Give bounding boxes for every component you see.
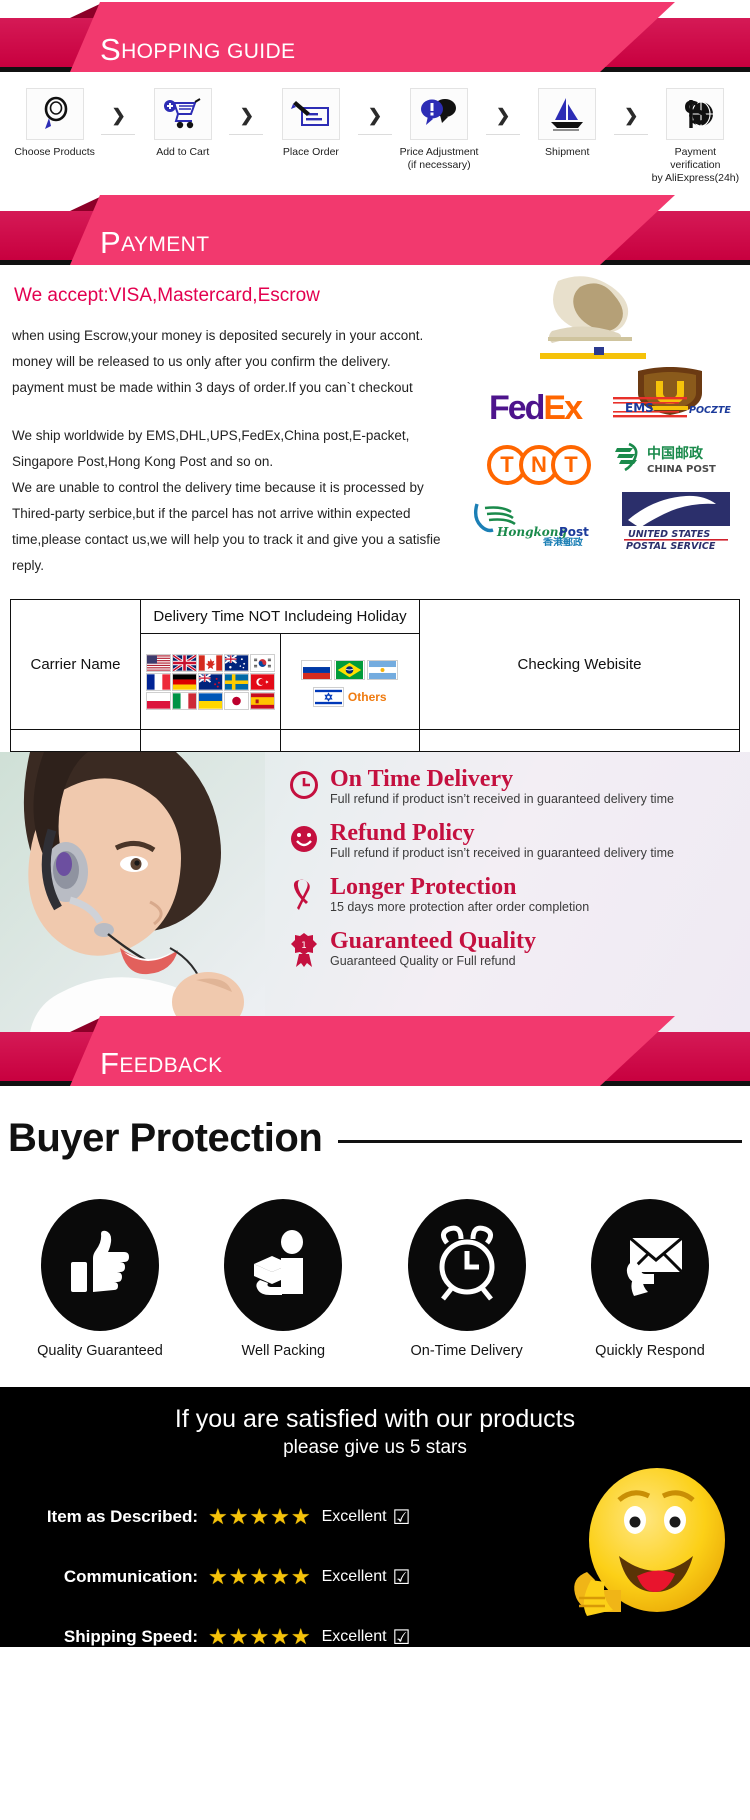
alarm-clock-icon xyxy=(427,1225,507,1305)
guarantee-refund-policy: Refund Policy Full refund if product isn… xyxy=(278,820,750,860)
rating-row-label: Item as Described: xyxy=(18,1507,198,1527)
china-post-logo: 中国邮政 CHINA POST xyxy=(612,441,740,477)
payment-text-column: when using Escrow,your money is deposite… xyxy=(12,323,452,579)
rating-row-item-as-described: Item as Described: ★★★★★ Excellent ☑ xyxy=(18,1487,448,1547)
step-label-secondary: by AliExpress(24h) xyxy=(649,172,742,185)
shipping-line: reply. xyxy=(12,553,452,579)
tnt-letter: T xyxy=(551,445,591,485)
divider xyxy=(338,1140,742,1143)
flag-france xyxy=(146,673,171,691)
svg-text:UNITED STATES: UNITED STATES xyxy=(628,529,710,540)
svg-text:EMS: EMS xyxy=(625,401,654,415)
section-title-feedback: FEEDBACK xyxy=(100,1046,223,1082)
product-description-page: SHOPPING GUIDE Choose Products ❯ xyxy=(0,18,750,1647)
flag-grid-primary xyxy=(141,650,280,714)
table-row xyxy=(11,730,740,752)
flag-israel xyxy=(313,687,344,707)
bp-icon-circle xyxy=(224,1199,342,1331)
bp-item-label: Well Packing xyxy=(197,1343,369,1359)
shipping-line: We ship worldwide by EMS,DHL,UPS,FedEx,C… xyxy=(12,423,452,449)
hongkong-post-logo: Hongkong Post 香港郵政 xyxy=(470,499,600,547)
checkbox-checked-icon[interactable]: ☑ xyxy=(393,1505,411,1530)
delivery-table-wrap: Carrier Name Delivery Time NOT Includein… xyxy=(0,585,750,752)
sailboat-icon xyxy=(547,96,587,132)
clock-icon xyxy=(289,770,319,800)
svg-text:POSTAL SERVICE: POSTAL SERVICE xyxy=(626,541,716,550)
guarantee-title: Guaranteed Quality xyxy=(330,928,536,954)
sign-document-icon xyxy=(290,97,332,131)
step-icon-box xyxy=(26,88,84,140)
shipping-line: We are unable to control the delivery ti… xyxy=(12,475,452,501)
rating-row-value: Excellent xyxy=(322,1568,387,1586)
guarantee-icon-wrap: 1 xyxy=(278,928,330,968)
bp-item-label: Quality Guaranteed xyxy=(14,1343,186,1359)
rating-headline-1: If you are satisfied with our products xyxy=(0,1387,750,1434)
chevron-right-icon: ❯ xyxy=(368,106,382,125)
china-post-en: CHINA POST xyxy=(647,464,716,475)
section-banner-shopping-guide: SHOPPING GUIDE xyxy=(0,18,750,72)
flag-argentina xyxy=(367,660,398,680)
step-icon-box xyxy=(666,88,724,140)
flag-spain xyxy=(250,692,275,710)
rating-stars: ★★★★★ xyxy=(198,1624,322,1647)
rating-headline-2: please give us 5 stars xyxy=(0,1434,750,1459)
flag-turkey xyxy=(250,673,275,691)
guarantee-icon-wrap xyxy=(278,766,330,800)
flag-new-zealand xyxy=(198,673,223,691)
flag-brazil xyxy=(334,660,365,680)
table-row: Carrier Name Delivery Time NOT Includein… xyxy=(11,600,740,634)
fedex-logo-part2: Ex xyxy=(543,391,581,425)
flag-japan xyxy=(224,692,249,710)
flag-sweden xyxy=(224,673,249,691)
step-payment-verification: Payment verification by AliExpress(24h) xyxy=(649,88,742,185)
flag-ukraine xyxy=(198,692,223,710)
section-title-cap: F xyxy=(100,1046,119,1081)
rating-row-label: Communication: xyxy=(18,1567,198,1587)
table-cell-empty xyxy=(280,730,420,752)
buyer-protection-header: Buyer Protection xyxy=(8,1116,742,1161)
table-cell-empty xyxy=(11,730,141,752)
rating-row-value: Excellent xyxy=(322,1508,387,1526)
bp-item-label: Quickly Respond xyxy=(564,1343,736,1359)
step-add-to-cart: Add to Cart xyxy=(136,88,229,159)
flag-south-korea xyxy=(250,654,275,672)
table-cell-flags-primary xyxy=(141,634,281,730)
checkbox-checked-icon[interactable]: ☑ xyxy=(393,1625,411,1648)
rating-row-communication: Communication: ★★★★★ Excellent ☑ xyxy=(18,1547,448,1607)
fedex-logo-part1: Fed xyxy=(489,391,543,425)
guarantee-on-time-delivery: On Time Delivery Full refund if product … xyxy=(278,766,750,806)
flag-germany xyxy=(172,673,197,691)
step-label: Price Adjustment xyxy=(392,146,485,159)
guarantee-title: On Time Delivery xyxy=(330,766,674,792)
shipping-line: time,please contact us,we will help you … xyxy=(12,527,452,553)
guarantee-subtitle: Full refund if product isn’t received in… xyxy=(330,792,674,806)
flag-italy xyxy=(172,692,197,710)
guarantee-guaranteed-quality: 1 Guaranteed Quality Guaranteed Quality … xyxy=(278,928,750,968)
step-shipment: Shipment xyxy=(521,88,614,159)
section-title-rest: HOPPING GUIDE xyxy=(121,40,295,63)
step-arrow: ❯ xyxy=(229,88,264,123)
bp-item-quickly-respond: Quickly Respond xyxy=(564,1199,736,1359)
envelope-hand-icon xyxy=(612,1230,688,1300)
payment-line: money will be released to us only after … xyxy=(12,349,452,375)
table-header-checking-website: Checking Webisite xyxy=(420,600,740,730)
table-header-delivery-time: Delivery Time NOT Includeing Holiday xyxy=(141,600,420,634)
step-label: Choose Products xyxy=(8,146,101,159)
step-arrow: ❯ xyxy=(614,88,649,123)
guarantee-icon-wrap xyxy=(278,874,330,912)
ribbon-icon xyxy=(291,878,317,912)
shopping-cart-plus-icon xyxy=(163,97,203,131)
step-arrow: ❯ xyxy=(486,88,521,123)
svg-text:1: 1 xyxy=(301,941,307,951)
page-title: Buyer Protection xyxy=(8,1116,322,1161)
flag-poland xyxy=(146,692,171,710)
svg-text:香港郵政: 香港郵政 xyxy=(543,536,584,546)
smiley-face-icon xyxy=(289,824,319,854)
svg-text:Hongkong: Hongkong xyxy=(496,525,567,539)
thumbs-up-smiley-icon xyxy=(557,1460,732,1635)
service-guarantee-band: On Time Delivery Full refund if product … xyxy=(0,752,750,1032)
chevron-right-icon: ❯ xyxy=(240,106,254,125)
fedex-logo: FedEx xyxy=(470,388,600,428)
speech-bubbles-icon xyxy=(418,97,460,131)
package-handling-icon xyxy=(246,1228,320,1302)
step-label-secondary: (if necessary) xyxy=(392,159,485,172)
shopping-guide-steps: Choose Products ❯ Add to Cart ❯ xyxy=(0,72,750,193)
svg-text:Post: Post xyxy=(559,525,589,539)
flag-russia xyxy=(301,660,332,680)
section-title-rest: AYMENT xyxy=(121,233,209,256)
step-arrow: ❯ xyxy=(358,88,393,123)
rating-row-value: Excellent xyxy=(322,1628,387,1646)
guarantee-subtitle: Guaranteed Quality or Full refund xyxy=(330,954,536,968)
step-icon-box xyxy=(154,88,212,140)
section-title-payment: PAYMENT xyxy=(100,225,209,261)
step-icon-box xyxy=(538,88,596,140)
tnt-logo: T N T xyxy=(470,443,600,487)
flag-united-states xyxy=(146,654,171,672)
payment-body: We accept:VISA,Mastercard,Escrow when us… xyxy=(0,265,750,585)
step-price-adjustment: Price Adjustment (if necessary) xyxy=(392,88,485,172)
bp-icon-circle xyxy=(41,1199,159,1331)
delivery-time-table: Carrier Name Delivery Time NOT Includein… xyxy=(10,599,740,752)
buyer-protection-icon-row: Quality Guaranteed Well Packing xyxy=(8,1161,742,1359)
china-post-cn: 中国邮政 xyxy=(647,445,704,462)
step-label: Payment verification xyxy=(649,146,742,172)
chevron-right-icon: ❯ xyxy=(624,106,638,125)
chevron-right-icon: ❯ xyxy=(496,106,510,125)
table-cell-empty xyxy=(141,730,281,752)
guarantee-subtitle: 15 days more protection after order comp… xyxy=(330,900,589,914)
section-title-rest: EEDBACK xyxy=(119,1054,222,1077)
step-label: Shipment xyxy=(521,146,614,159)
flag-canada xyxy=(198,654,223,672)
bp-icon-circle xyxy=(591,1199,709,1331)
table-cell-empty xyxy=(420,730,740,752)
section-title-cap: P xyxy=(100,225,121,260)
bp-item-quality-guaranteed: Quality Guaranteed xyxy=(14,1199,186,1359)
step-icon-box xyxy=(410,88,468,140)
bp-item-on-time-delivery: On-Time Delivery xyxy=(381,1199,553,1359)
section-banner-feedback: FEEDBACK xyxy=(0,1032,750,1086)
step-arrow: ❯ xyxy=(101,88,136,123)
rating-stars: ★★★★★ xyxy=(198,1564,322,1590)
flag-grid-secondary xyxy=(281,656,420,684)
step-choose-products: Choose Products xyxy=(8,88,101,159)
payment-line: when using Escrow,your money is deposite… xyxy=(12,323,452,349)
ems-pocztex-logo: EMS POCZTEX xyxy=(612,395,732,421)
rating-request-block: If you are satisfied with our products p… xyxy=(0,1387,750,1647)
checkbox-checked-icon[interactable]: ☑ xyxy=(393,1565,411,1590)
magnifier-icon xyxy=(36,96,74,132)
rating-rows: Item as Described: ★★★★★ Excellent ☑ Com… xyxy=(18,1487,448,1647)
guarantee-list: On Time Delivery Full refund if product … xyxy=(278,766,750,982)
bp-icon-circle xyxy=(408,1199,526,1331)
dollar-globe-icon xyxy=(675,96,715,132)
step-place-order: Place Order xyxy=(264,88,357,159)
step-label: Add to Cart xyxy=(136,146,229,159)
payment-line: payment must be made within 3 days of or… xyxy=(12,375,452,401)
flag-united-kingdom xyxy=(172,654,197,672)
table-header-carrier-name: Carrier Name xyxy=(11,600,141,730)
step-icon-box xyxy=(282,88,340,140)
guarantee-title: Longer Protection xyxy=(330,874,589,900)
others-label: Others xyxy=(348,690,387,704)
customer-service-agent-image xyxy=(0,752,265,1032)
usps-logo: UNITED STATES POSTAL SERVICE xyxy=(618,489,734,551)
thumbs-up-icon xyxy=(63,1228,137,1302)
chevron-right-icon: ❯ xyxy=(112,106,126,125)
rating-row-label: Shipping Speed: xyxy=(18,1627,198,1647)
bp-item-label: On-Time Delivery xyxy=(381,1343,553,1359)
carrier-logo-panel: FedEx EMS POCZTEX xyxy=(460,273,750,563)
buyer-protection-section: Buyer Protection Quality Guaranteed xyxy=(0,1086,750,1369)
rating-stars: ★★★★★ xyxy=(198,1504,322,1530)
svg-text:POCZTEX: POCZTEX xyxy=(689,405,731,416)
section-banner-payment: PAYMENT xyxy=(0,211,750,265)
shipping-line: Singapore Post,Hong Kong Post and so on. xyxy=(12,449,452,475)
flag-australia xyxy=(224,654,249,672)
mail-sack-image xyxy=(518,273,658,378)
award-badge-icon: 1 xyxy=(290,932,318,968)
guarantee-title: Refund Policy xyxy=(330,820,674,846)
rating-row-shipping-speed: Shipping Speed: ★★★★★ Excellent ☑ xyxy=(18,1607,448,1647)
guarantee-subtitle: Full refund if product isn’t received in… xyxy=(330,846,674,860)
others-row: Others xyxy=(281,687,420,707)
table-cell-flags-secondary: Others xyxy=(280,634,420,730)
bp-item-well-packing: Well Packing xyxy=(197,1199,369,1359)
shipping-line: Thired-party serbice,but if the parcel h… xyxy=(12,501,452,527)
guarantee-icon-wrap xyxy=(278,820,330,854)
step-label: Place Order xyxy=(264,146,357,159)
guarantee-longer-protection: Longer Protection 15 days more protectio… xyxy=(278,874,750,914)
section-title-cap: S xyxy=(100,32,121,67)
section-title-shopping-guide: SHOPPING GUIDE xyxy=(100,32,295,68)
